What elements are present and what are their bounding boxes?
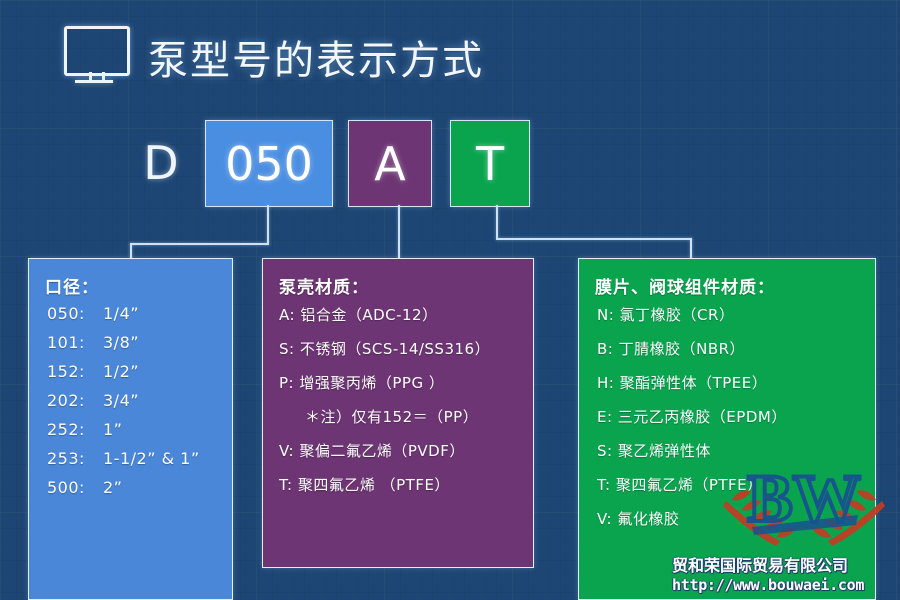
bore-code: 101: xyxy=(47,333,103,352)
panel-body-title: 泵壳材质： xyxy=(279,273,523,298)
bore-code: 202: xyxy=(47,391,103,410)
list-item: V: 聚偏二氟乙烯（PVDF） xyxy=(279,440,523,461)
bore-code: 253: xyxy=(47,449,103,468)
list-item: 500:2” xyxy=(47,478,222,497)
code-segment-bore: 050 xyxy=(205,120,333,207)
list-item: S: 不锈钢（SCS-14/SS316） xyxy=(279,338,523,359)
connector-bore-vertical xyxy=(267,205,269,245)
list-item: T: 聚四氟乙烯（PTFE） xyxy=(597,474,865,495)
list-item: 101:3/8” xyxy=(47,333,222,352)
bore-code: 152: xyxy=(47,362,103,381)
list-item: S: 聚乙烯弹性体 xyxy=(597,440,865,461)
list-item: N: 氯丁橡胶（CR） xyxy=(597,304,865,325)
connector-membrane-vertical xyxy=(496,205,498,239)
bore-value: 2” xyxy=(103,478,122,497)
list-item: E: 三元乙丙橡胶（EPDM） xyxy=(597,406,865,427)
list-item: H: 聚酯弹性体（TPEE） xyxy=(597,372,865,393)
panel-bore-title: 口径： xyxy=(45,273,222,298)
list-item: 202:3/4” xyxy=(47,391,222,410)
bore-value: 3/4” xyxy=(103,391,139,410)
list-item-note: ＊注）仅有152＝（PP） xyxy=(279,406,523,427)
list-item: A: 铝合金（ADC-12） xyxy=(279,304,523,325)
bore-value: 1” xyxy=(103,420,122,439)
bore-value: 1/2” xyxy=(103,362,139,381)
connector-bore-horizontal xyxy=(130,243,269,245)
list-item: 152:1/2” xyxy=(47,362,222,381)
list-item: 252:1” xyxy=(47,420,222,439)
list-item: T: 聚四氟乙烯 （PTFE） xyxy=(279,474,523,495)
panel-membrane-title: 膜片、阀球组件材质： xyxy=(595,273,865,298)
connector-membrane-horizontal xyxy=(496,238,692,240)
bore-value: 1-1/2” & 1” xyxy=(103,449,200,468)
panel-membrane-list: N: 氯丁橡胶（CR） B: 丁腈橡胶（NBR） H: 聚酯弹性体（TPEE） … xyxy=(593,304,865,529)
monitor-icon xyxy=(64,26,128,88)
code-segment-membrane: T xyxy=(450,120,530,207)
list-item: B: 丁腈橡胶（NBR） xyxy=(597,338,865,359)
connector-body-vertical xyxy=(398,205,400,259)
list-item: V: 氟化橡胶 xyxy=(597,508,865,529)
bore-value: 3/8” xyxy=(103,333,139,352)
slide-header: 泵型号的表示方式 xyxy=(64,26,484,88)
list-item: 050:1/4” xyxy=(47,304,222,323)
panel-body-material: 泵壳材质： A: 铝合金（ADC-12） S: 不锈钢（SCS-14/SS316… xyxy=(262,258,534,568)
connector-bore-drop xyxy=(130,243,132,259)
bore-value: 1/4” xyxy=(103,304,139,323)
panel-body-list: A: 铝合金（ADC-12） S: 不锈钢（SCS-14/SS316） P: 增… xyxy=(277,304,523,495)
panel-membrane-material: 膜片、阀球组件材质： N: 氯丁橡胶（CR） B: 丁腈橡胶（NBR） H: 聚… xyxy=(578,258,876,600)
list-item: 253:1-1/2” & 1” xyxy=(47,449,222,468)
panel-bore: 口径： 050:1/4” 101:3/8” 152:1/2” 202:3/4” … xyxy=(28,258,233,600)
panel-bore-list: 050:1/4” 101:3/8” 152:1/2” 202:3/4” 252:… xyxy=(43,304,222,497)
bore-code: 252: xyxy=(47,420,103,439)
connector-membrane-drop xyxy=(690,238,692,259)
bore-code: 500: xyxy=(47,478,103,497)
page-title: 泵型号的表示方式 xyxy=(148,28,484,86)
bore-code: 050: xyxy=(47,304,103,323)
code-segment-prefix: D xyxy=(130,120,192,205)
code-segment-body: A xyxy=(348,120,432,207)
list-item: P: 增强聚丙烯（PPG ） xyxy=(279,372,523,393)
